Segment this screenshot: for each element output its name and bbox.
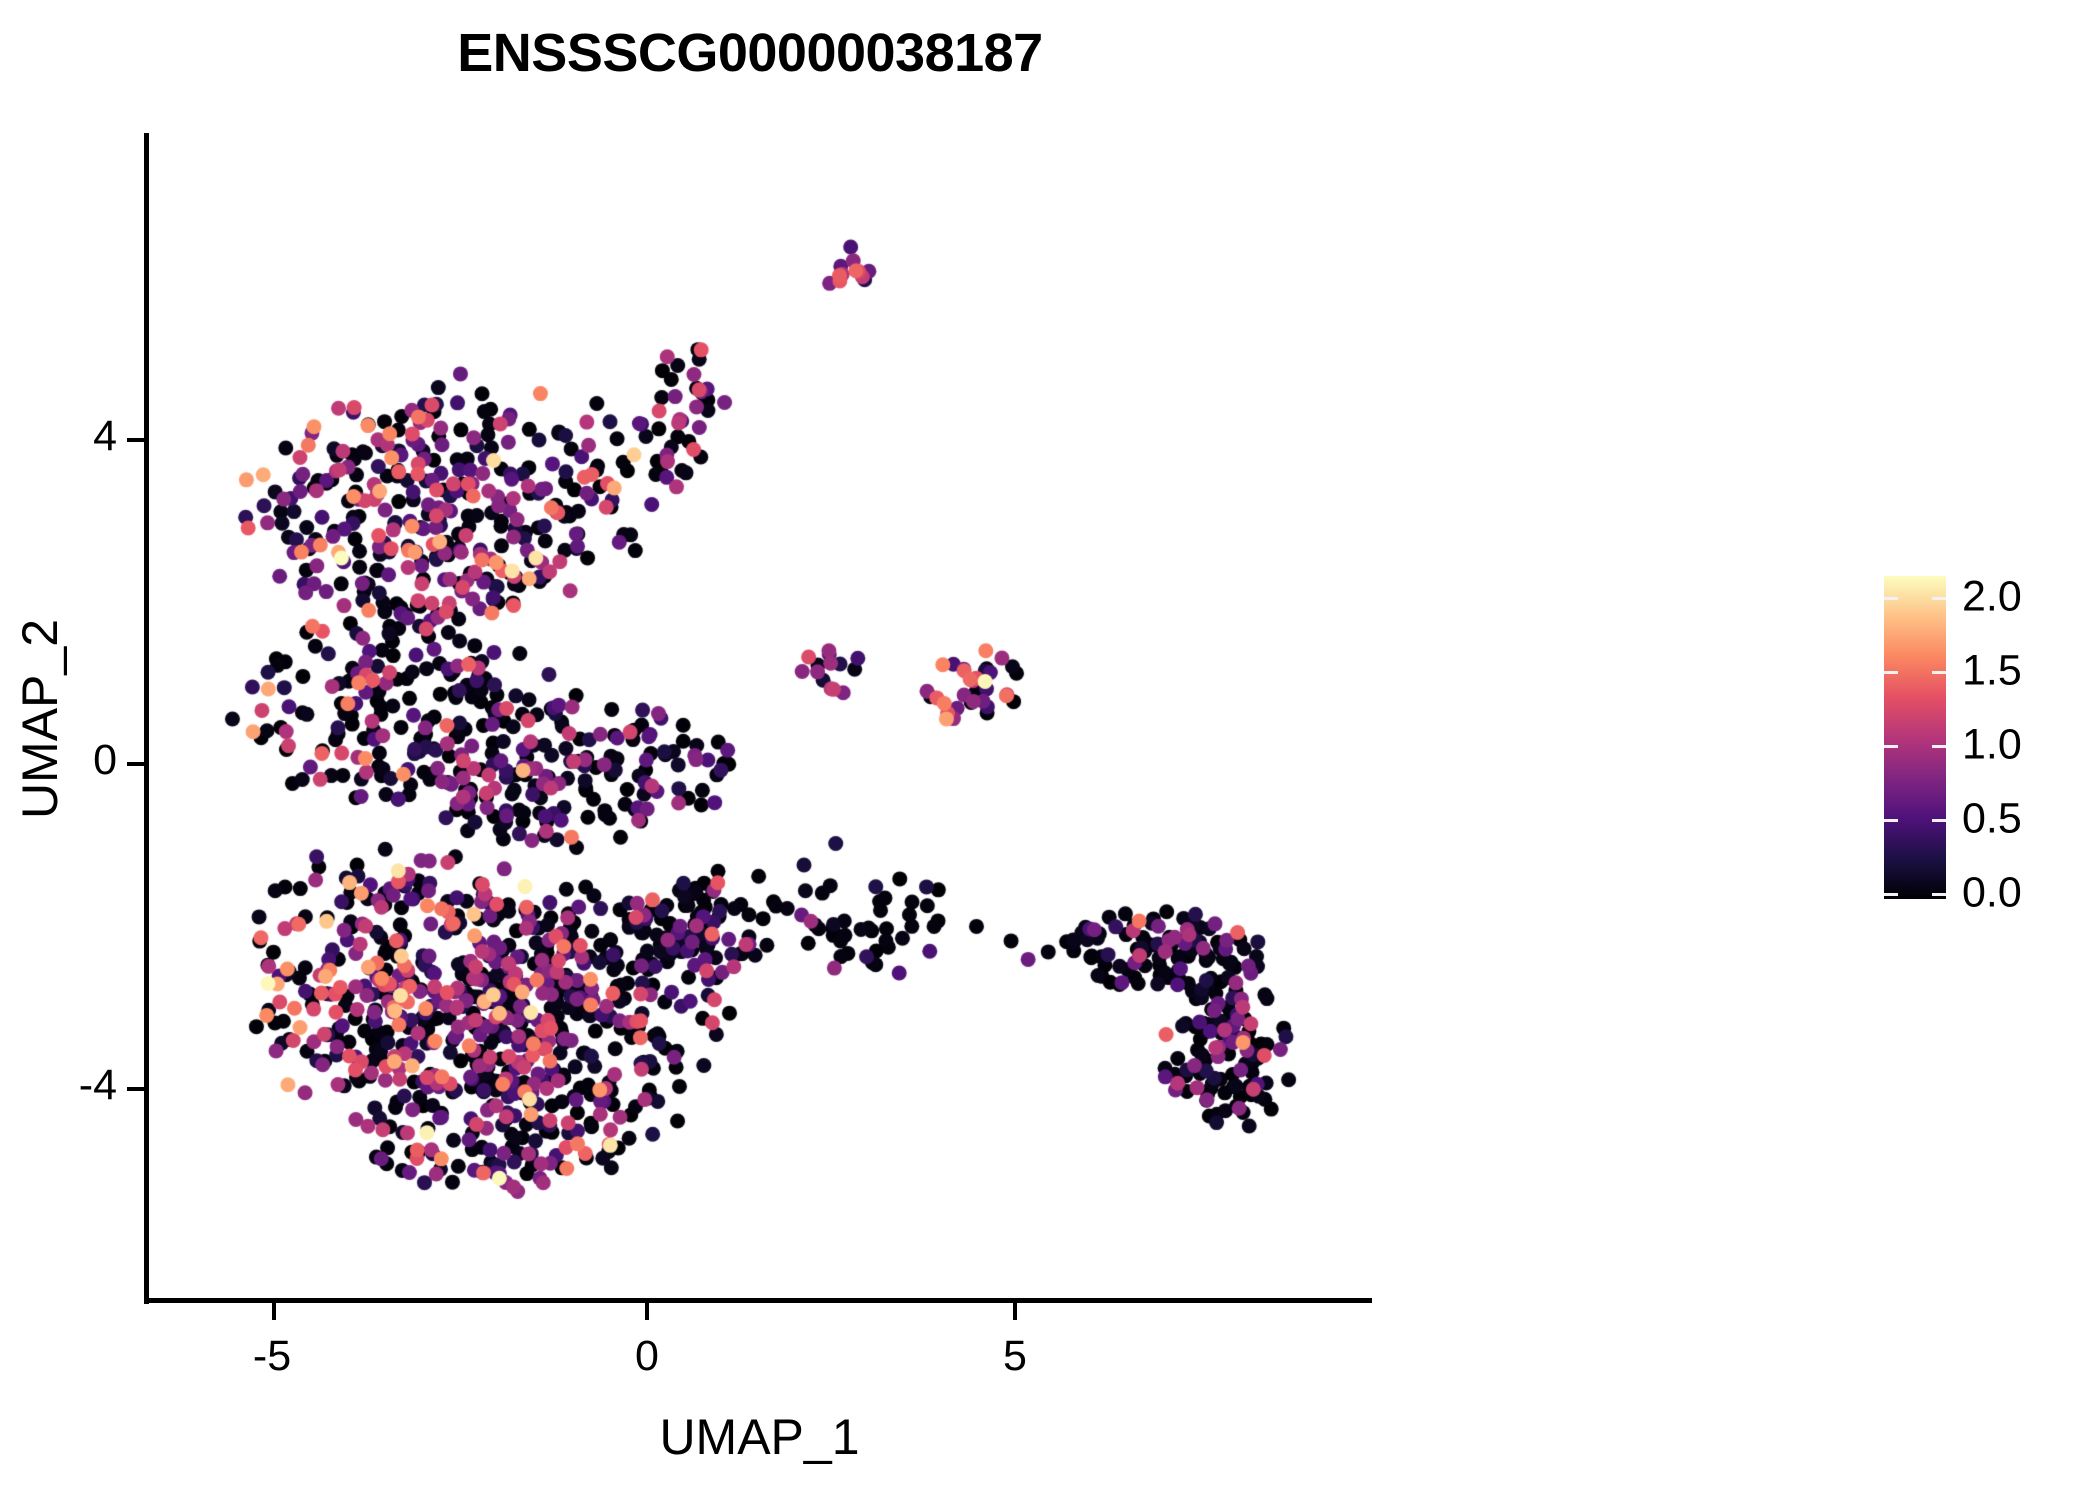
y-tick-label-neg4: -4 [42,1061,117,1110]
legend-label-0-5: 0.5 [1962,795,2022,844]
x-tick-label-5: 5 [965,1332,1065,1381]
y-axis-line [144,133,149,1304]
colorbar-tick [1932,745,1946,748]
colorbar-tick [1932,893,1946,896]
y-tick-mark [127,438,144,442]
x-tick-mark [1013,1303,1017,1320]
legend-label-2-0: 2.0 [1962,573,2022,622]
colorbar-tick [1884,819,1898,822]
x-tick-mark [272,1303,276,1320]
x-tick-label-0: 0 [597,1332,697,1381]
colorbar-tick [1932,597,1946,600]
colorbar-tick [1932,819,1946,822]
y-tick-mark [127,1087,144,1091]
scatter-points-layer [147,133,1372,1301]
umap-feature-plot: ENSSSCG00000038187 4 0 -4 -5 0 5 UMAP_2 … [0,0,2100,1500]
colorbar-tick [1884,597,1898,600]
colorbar-tick [1884,745,1898,748]
colorbar-gradient [1884,576,1946,899]
y-tick-label-0: 0 [62,736,117,785]
colorbar-tick [1884,671,1898,674]
x-tick-mark [645,1303,649,1320]
legend-label-1-5: 1.5 [1962,647,2022,696]
colorbar-tick [1932,671,1946,674]
legend-label-0-0: 0.0 [1962,869,2022,918]
legend-label-1-0: 1.0 [1962,721,2022,770]
colorbar-tick [1884,893,1898,896]
page-title: ENSSSCG00000038187 [0,22,1500,84]
color-legend: 2.0 1.5 1.0 0.5 0.0 [1884,576,1946,899]
x-axis-line [144,1298,1372,1303]
y-tick-mark [127,762,144,766]
y-axis-title: UMAP_2 [11,559,69,879]
x-axis-title: UMAP_1 [147,1408,1372,1466]
x-tick-label-neg5: -5 [222,1332,322,1381]
y-tick-label-4: 4 [62,412,117,461]
plot-panel [147,133,1372,1301]
